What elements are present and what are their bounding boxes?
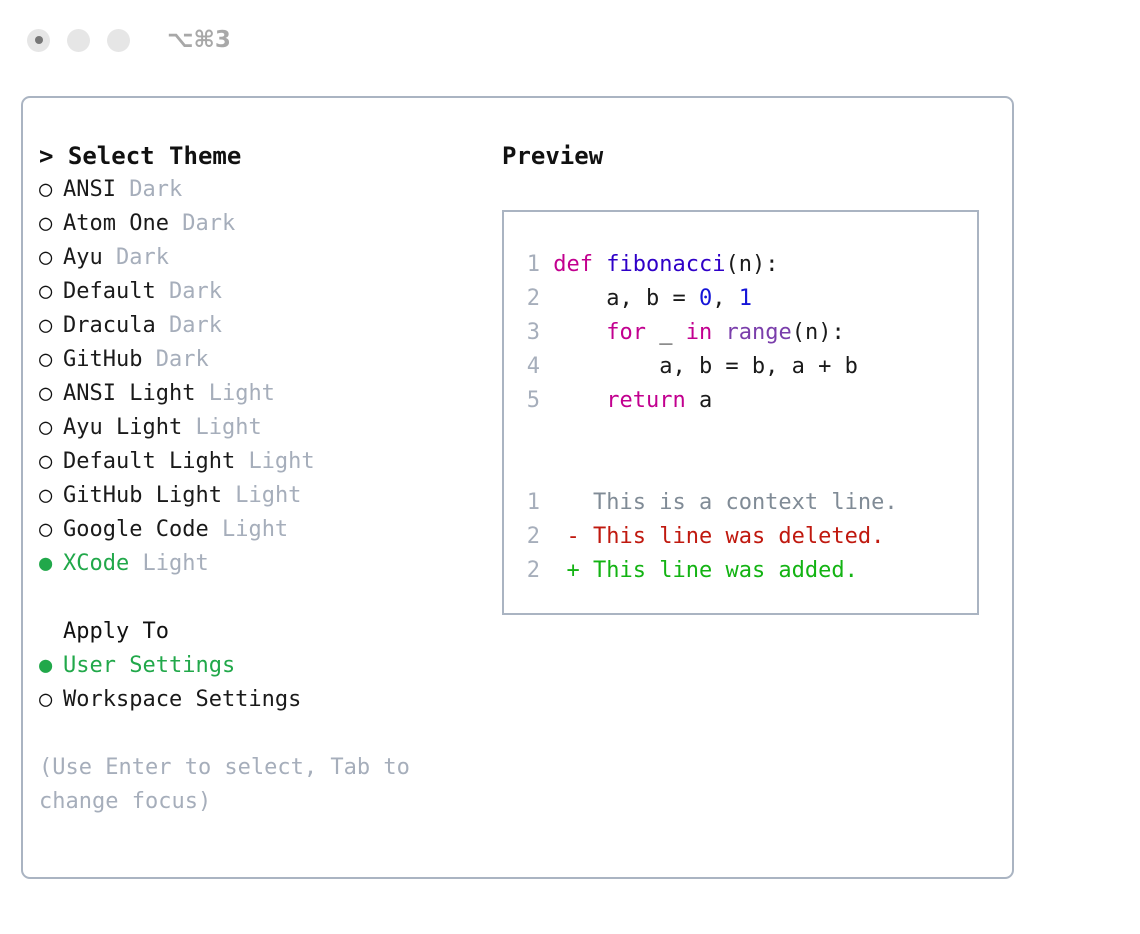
radio-unselected-icon: ○ [39,173,63,207]
traffic-light-group [27,29,130,52]
diff-line: 2 - This line was deleted. [518,520,977,554]
code-token-txt: a [686,388,713,413]
theme-name-label: Default Light [63,445,235,479]
theme-kind-label: Light [235,479,301,513]
apply-to-option-label: User Settings [63,649,235,683]
code-token-txt: , [712,286,739,311]
gutter-gap [540,354,553,379]
diff-marker [567,490,594,515]
diff-line: 1 This is a context line. [518,486,977,520]
theme-name-label: Google Code [63,513,209,547]
theme-name-label: Ayu [63,241,103,275]
spacer [116,173,129,207]
diff-line-number: 1 [518,486,540,520]
code-line: 3 for _ in range(n): [518,316,977,350]
code-token-num: 1 [739,286,752,311]
diff-text: This is a context line. [593,490,898,515]
theme-kind-label: Light [142,547,208,581]
code-line-number: 5 [518,384,540,418]
radio-unselected-icon: ○ [39,241,63,275]
code-token-kw: return [606,388,685,413]
traffic-dot-record-icon[interactable] [27,29,50,52]
preview-column: Preview 1 def fibonacci(n):2 a, b = 0, 1… [502,139,1002,615]
radio-unselected-icon: ○ [39,513,63,547]
theme-list-item[interactable]: ○GitHub Dark [39,343,494,377]
keyboard-shortcut-label: ⌥⌘3 [167,27,231,53]
apply-to-option[interactable]: ●User Settings [39,649,494,683]
theme-kind-label: Dark [156,343,209,377]
main-panel: > Select Theme ○ANSI Dark○Atom One Dark○… [21,96,1014,879]
record-dot-inner [35,36,43,44]
gutter-gap [540,286,553,311]
theme-name-label: Dracula [63,309,156,343]
theme-name-label: Default [63,275,156,309]
theme-kind-label: Light [209,377,275,411]
spacer [39,581,494,615]
diff-line: 2 + This line was added. [518,554,977,588]
spacer [142,343,155,377]
preview-box: 1 def fibonacci(n):2 a, b = 0, 13 for _ … [502,210,979,615]
theme-list-item[interactable]: ●XCode Light [39,547,494,581]
theme-name-label: Atom One [63,207,169,241]
gutter-gap [540,490,567,515]
theme-list-item[interactable]: ○Default Light Light [39,445,494,479]
spacer [169,207,182,241]
theme-list-item[interactable]: ○Ayu Light Light [39,411,494,445]
radio-unselected-icon: ○ [39,275,63,309]
code-line-number: 2 [518,282,540,316]
spacer [235,445,248,479]
code-token-num: 0 [699,286,712,311]
code-line: 2 a, b = 0, 1 [518,282,977,316]
radio-unselected-icon: ○ [39,207,63,241]
code-line: 4 a, b = b, a + b [518,350,977,384]
code-token-txt: (n): [725,252,778,277]
apply-to-heading: Apply To [39,615,494,649]
code-token-fn: fibonacci [606,252,725,277]
spacer [103,241,116,275]
radio-unselected-icon: ○ [39,683,63,717]
radio-unselected-icon: ○ [39,445,63,479]
gutter-gap [540,388,553,413]
code-diff-spacer-2 [518,452,977,486]
theme-selection-column: > Select Theme ○ANSI Dark○Atom One Dark○… [39,139,494,819]
radio-unselected-icon: ○ [39,411,63,445]
radio-unselected-icon: ○ [39,309,63,343]
code-token-txt: _ [646,320,686,345]
theme-list-item[interactable]: ○GitHub Light Light [39,479,494,513]
diff-marker: - [567,524,594,549]
radio-unselected-icon: ○ [39,377,63,411]
code-line: 5 return a [518,384,977,418]
theme-list-item[interactable]: ○Ayu Dark [39,241,494,275]
code-token-call: range [725,320,791,345]
theme-list-item[interactable]: ○ANSI Dark [39,173,494,207]
theme-name-label: ANSI Light [63,377,195,411]
gutter-gap [540,252,553,277]
gutter-gap [540,320,553,345]
traffic-dot-two-icon[interactable] [67,29,90,52]
theme-list-item[interactable]: ○Dracula Dark [39,309,494,343]
code-token-txt [553,320,606,345]
theme-name-label: Ayu Light [63,411,182,445]
code-token-kw: def [553,252,606,277]
theme-kind-label: Light [195,411,261,445]
spacer [195,377,208,411]
diff-text: This line was deleted. [593,524,884,549]
spacer [222,479,235,513]
spacer [129,547,142,581]
apply-to-option[interactable]: ○Workspace Settings [39,683,494,717]
spacer [156,275,169,309]
theme-kind-label: Dark [129,173,182,207]
spacer [156,309,169,343]
theme-kind-label: Dark [169,275,222,309]
spacer [209,513,222,547]
theme-list[interactable]: ○ANSI Dark○Atom One Dark○Ayu Dark○Defaul… [39,173,494,581]
apply-to-option-list[interactable]: ●User Settings○Workspace Settings [39,649,494,717]
theme-name-label: ANSI [63,173,116,207]
code-token-txt: a, b = b, a + b [553,354,858,379]
theme-kind-label: Light [222,513,288,547]
preview-heading: Preview [502,139,1002,173]
code-line: 1 def fibonacci(n): [518,248,977,282]
diff-line-number: 2 [518,554,540,588]
code-line-number: 4 [518,350,540,384]
radio-selected-icon: ● [39,649,63,683]
keyboard-hint-text: (Use Enter to select, Tab to change focu… [39,751,459,819]
spacer [182,411,195,445]
select-theme-heading: > Select Theme [39,139,494,173]
theme-list-item[interactable]: ○Google Code Light [39,513,494,547]
theme-name-label: GitHub [63,343,142,377]
radio-selected-icon: ● [39,547,63,581]
theme-kind-label: Light [248,445,314,479]
gutter-gap [540,524,567,549]
code-token-txt [553,388,606,413]
code-token-kw: in [686,320,713,345]
radio-unselected-icon: ○ [39,343,63,377]
theme-kind-label: Dark [116,241,169,275]
app-window: ⌥⌘3 > Select Theme ○ANSI Dark○Atom One D… [0,0,1140,934]
code-token-txt [712,320,725,345]
diff-marker: + [567,558,594,583]
apply-to-option-label: Workspace Settings [63,683,301,717]
traffic-dot-three-icon[interactable] [107,29,130,52]
radio-unselected-icon: ○ [39,479,63,513]
diff-line-number: 2 [518,520,540,554]
theme-list-item[interactable]: ○Default Dark [39,275,494,309]
code-diff-spacer [518,418,977,452]
diff-text: This line was added. [593,558,858,583]
code-token-txt: (n): [792,320,845,345]
theme-name-label: GitHub Light [63,479,222,513]
theme-name-label: XCode [63,547,129,581]
code-sample: 1 def fibonacci(n):2 a, b = 0, 13 for _ … [518,248,977,418]
code-token-kw: for [606,320,646,345]
gutter-gap [540,558,567,583]
theme-kind-label: Dark [182,207,235,241]
code-line-number: 3 [518,316,540,350]
theme-list-item[interactable]: ○ANSI Light Light [39,377,494,411]
code-line-number: 1 [518,248,540,282]
theme-kind-label: Dark [169,309,222,343]
diff-sample: 1 This is a context line.2 - This line w… [518,486,977,588]
code-token-txt: a, b = [553,286,699,311]
title-bar: ⌥⌘3 [0,0,1140,80]
theme-list-item[interactable]: ○Atom One Dark [39,207,494,241]
